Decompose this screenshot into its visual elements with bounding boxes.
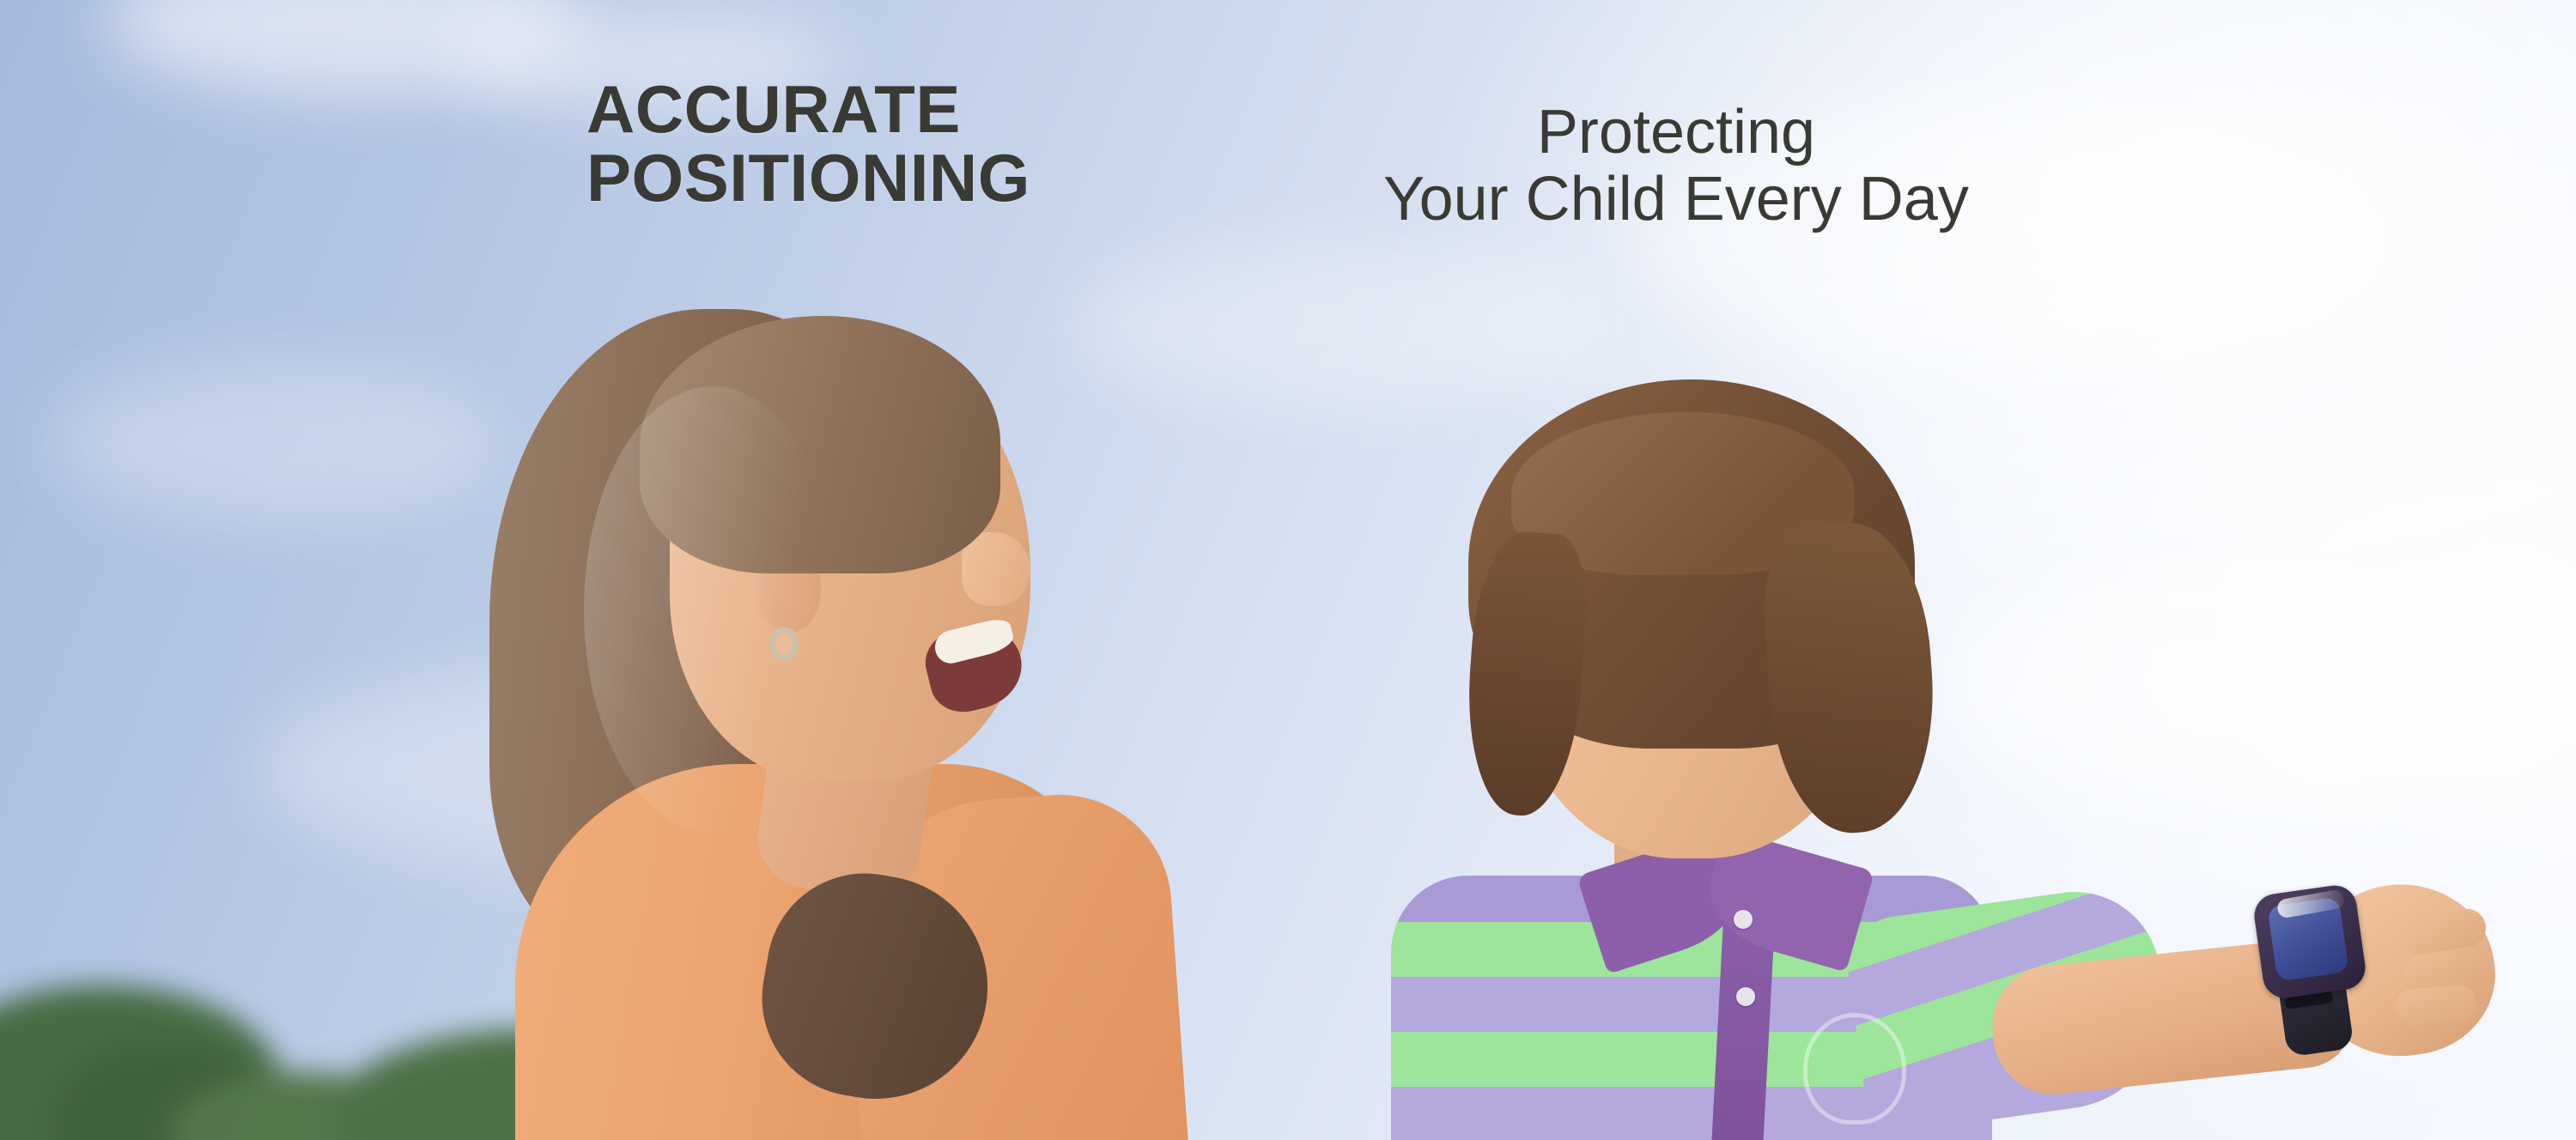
finger xyxy=(2395,985,2478,1026)
polo-button xyxy=(1736,987,1755,1006)
headline-protecting-your-child: Protecting Your Child Every Day xyxy=(1383,100,1969,233)
woman-figure xyxy=(481,283,1211,1140)
woman-hair-highlight xyxy=(584,386,841,833)
polo-button xyxy=(1734,910,1753,929)
woman-nose xyxy=(962,532,1030,606)
shirt-emblem-icon xyxy=(1803,1013,1906,1125)
hero-banner: ACCURATE POSITIONING Protecting Your Chi… xyxy=(0,0,2576,1140)
photo-subjects xyxy=(0,0,2576,1140)
headline-accurate-positioning: ACCURATE POSITIONING xyxy=(586,76,1030,212)
